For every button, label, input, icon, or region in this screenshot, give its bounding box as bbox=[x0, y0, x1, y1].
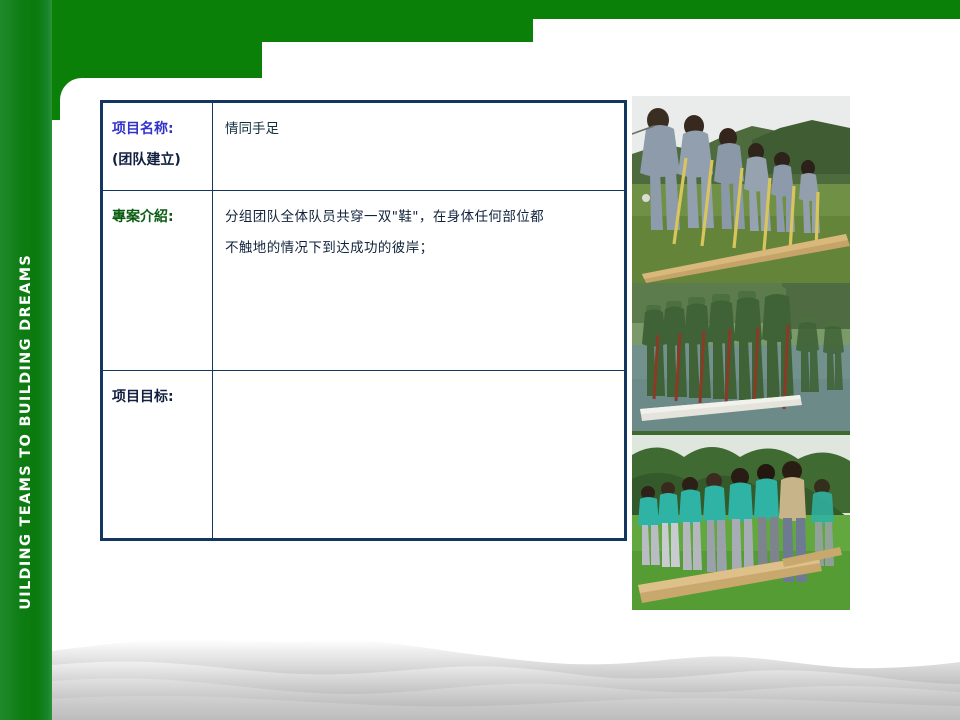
table-cell-value: 情同手足 bbox=[213, 103, 624, 190]
table-row: 项目名称: (团队建立) 情同手足 bbox=[103, 103, 624, 191]
misty-mountain-silhouette bbox=[0, 610, 960, 720]
table-cell-value: 分组团队全体队员共穿一双"鞋"，在身体任何部位都 不触地的情况下到达成功的彼岸； bbox=[213, 191, 624, 370]
table-cell-label: 项目名称: (团队建立) bbox=[103, 103, 213, 190]
header-band-left bbox=[0, 0, 533, 42]
header-band-right bbox=[533, 0, 960, 19]
table-cell-value bbox=[213, 371, 624, 538]
table-row: 项目目标: bbox=[103, 371, 624, 538]
photo-camouflage-blue-team-on-ski-board bbox=[632, 96, 850, 283]
project-intro-line-2: 不触地的情况下到达成功的彼岸； bbox=[225, 233, 624, 264]
sidebar-bottom-overlay bbox=[0, 610, 52, 720]
table-row: 專案介紹: 分组团队全体队员共穿一双"鞋"，在身体任何部位都 不触地的情况下到达… bbox=[103, 191, 624, 371]
row-label-project-intro: 專案介紹: bbox=[112, 202, 212, 233]
photo-2-artwork bbox=[632, 283, 850, 435]
project-intro-line-1: 分组团队全体队员共穿一双"鞋"，在身体任何部位都 bbox=[225, 202, 624, 233]
project-info-table: 项目名称: (团队建立) 情同手足 專案介紹: 分组团队全体队员共穿一双"鞋"，… bbox=[100, 100, 627, 541]
photo-column bbox=[632, 96, 850, 614]
photo-camouflage-green-team-on-court bbox=[632, 283, 850, 435]
row-label-project-name: 项目名称: bbox=[112, 114, 212, 145]
photo-1-artwork bbox=[632, 96, 850, 283]
table-cell-label: 项目目标: bbox=[103, 371, 213, 538]
mountain-artwork bbox=[0, 610, 960, 720]
photo-3-artwork bbox=[632, 435, 850, 614]
project-name-value: 情同手足 bbox=[225, 114, 624, 144]
sidebar-tagline: BUILDING TEAMS TO BUILDING DREAMS bbox=[18, 254, 34, 622]
row-label-project-goal: 项目目标: bbox=[112, 382, 212, 413]
table-cell-label: 專案介紹: bbox=[103, 191, 213, 370]
row-label-project-name-sub: (团队建立) bbox=[112, 145, 212, 176]
slide-canvas: BUILDING TEAMS TO BUILDING DREAMS 项目名称: … bbox=[0, 0, 960, 720]
photo-teal-shirt-team-on-grass bbox=[632, 435, 850, 614]
